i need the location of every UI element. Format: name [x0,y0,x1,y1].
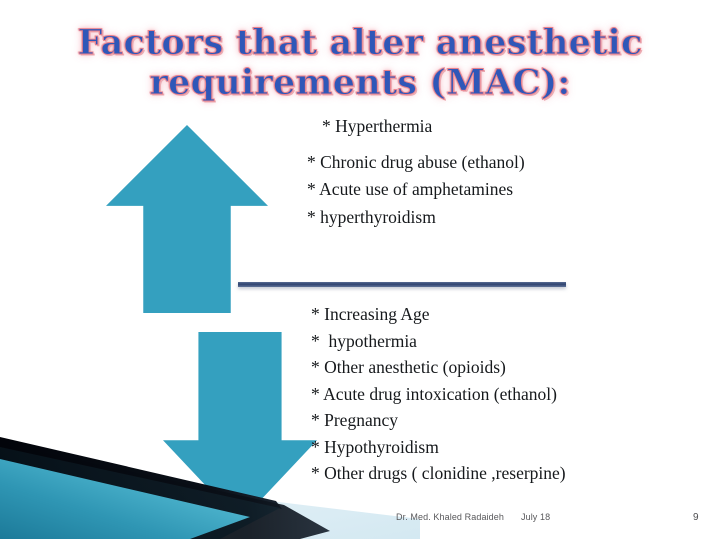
list-item: * Acute use of amphetamines [307,181,525,199]
increase-mac-list: * Hyperthermia * Chronic drug abuse (eth… [307,118,525,236]
title-line-1: Factors that alter anesthetic [0,24,720,62]
footer-page-number: 9 [693,512,699,523]
footer-author: Dr. Med. Khaled Radaideh [396,512,504,522]
list-item: * Acute drug intoxication (ethanol) [311,386,566,404]
list-item: * Pregnancy [311,412,566,430]
slide-canvas: Factors that alter anesthetic requiremen… [0,0,720,539]
list-item: * Hyperthermia [322,118,525,136]
slide-footer: Dr. Med. Khaled Radaideh July 18 9 [0,512,720,532]
footer-date: July 18 [521,512,550,522]
list-item: * Increasing Age [311,306,566,324]
title-line-2: requirements (MAC): [0,64,720,102]
list-item: * Hypothyroidism [311,439,566,457]
section-divider [238,282,566,287]
slide-title: Factors that alter anesthetic requiremen… [0,24,720,102]
list-item: * Chronic drug abuse (ethanol) [307,154,525,172]
list-item: * hyperthyroidism [307,209,525,227]
list-item: * Other anesthetic (opioids) [311,359,566,377]
down-arrow-icon [163,332,317,522]
decrease-mac-list: * Increasing Age * hypothermia * Other a… [311,306,566,492]
list-item: * hypothermia [311,333,566,351]
list-item: * Other drugs ( clonidine ,reserpine) [311,465,566,483]
